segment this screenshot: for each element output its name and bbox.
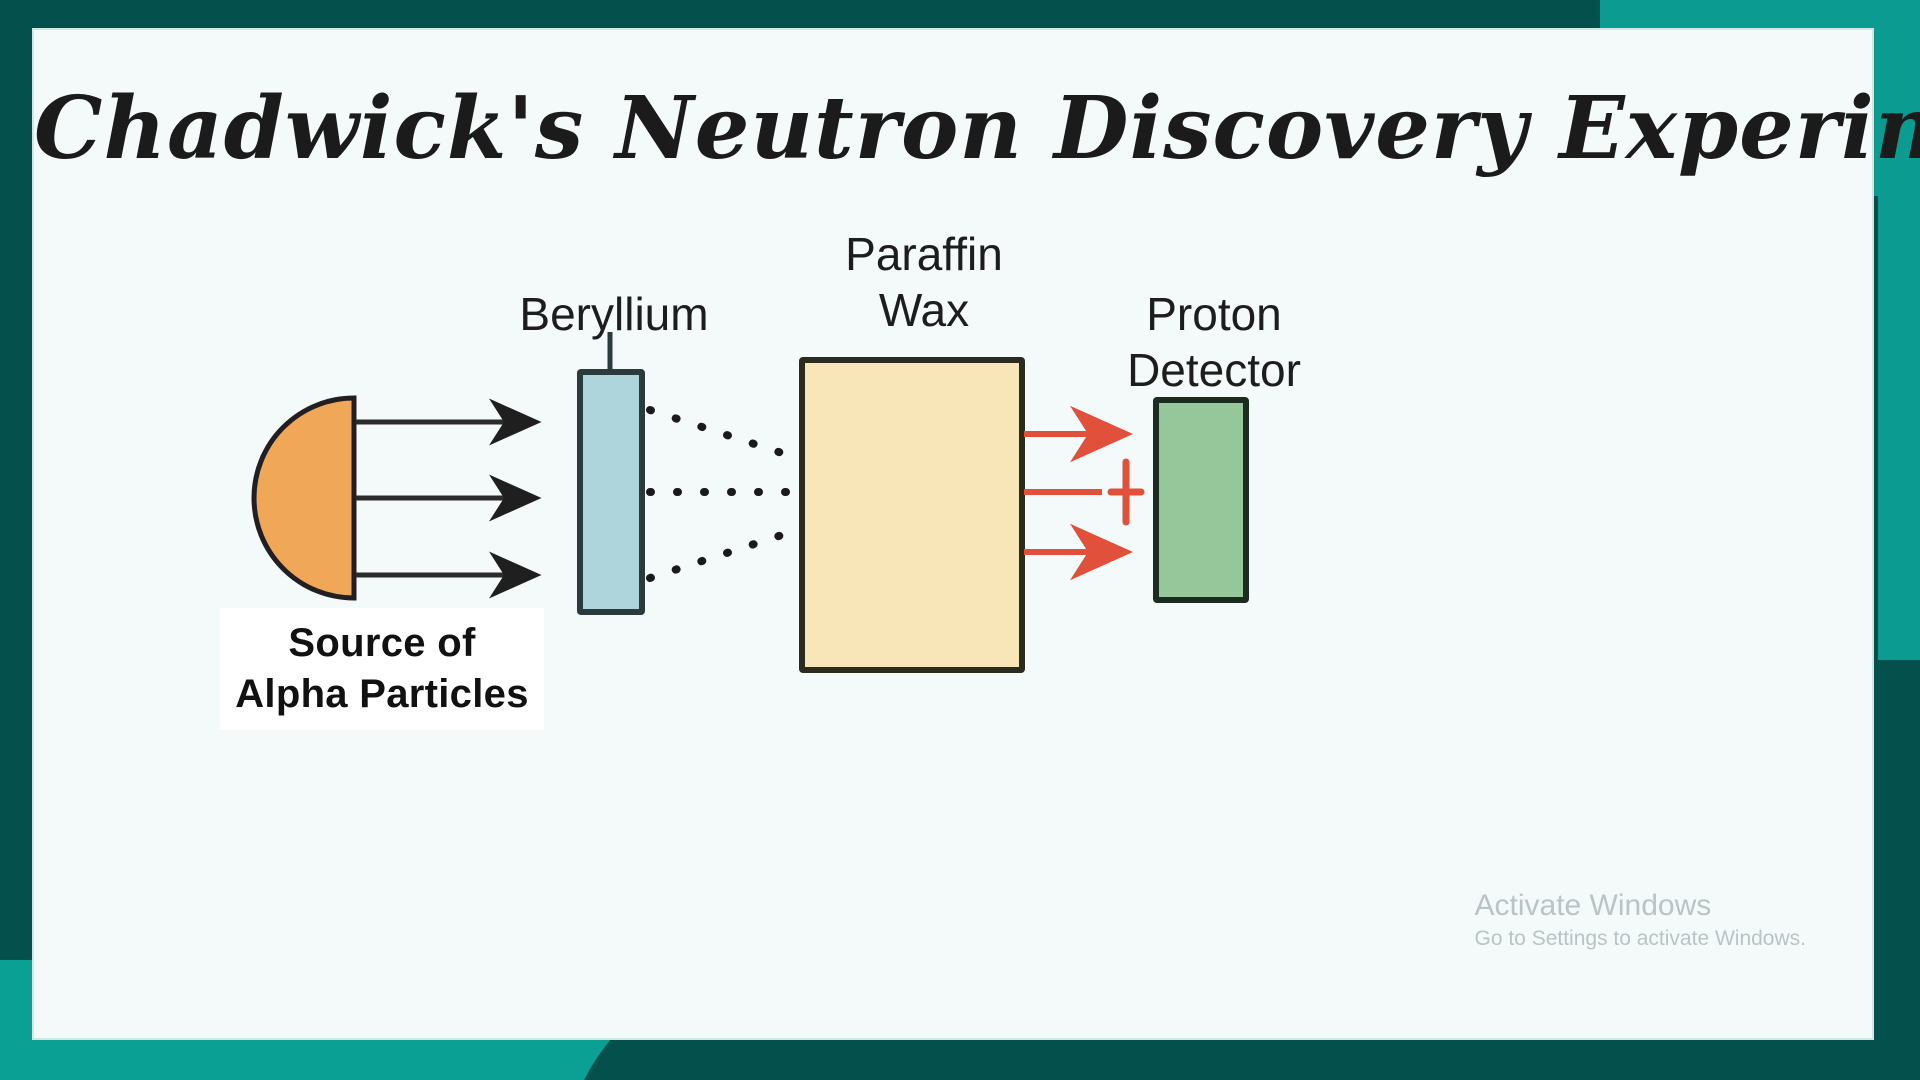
label-detector-line1: Proton <box>1054 286 1374 342</box>
slide-canvas: Chadwick's Neutron Discovery Experiment <box>0 0 1920 1080</box>
label-source-line2: Alpha Particles <box>232 669 532 720</box>
proton-charge-symbol <box>1111 462 1141 522</box>
proton-detector-block <box>1156 400 1246 600</box>
label-proton-detector: Proton Detector <box>1054 286 1374 398</box>
experiment-diagram <box>34 30 1872 1038</box>
alpha-source-shape <box>254 398 354 598</box>
alpha-beam-group <box>356 422 534 575</box>
watermark-subtitle: Go to Settings to activate Windows. <box>1475 925 1807 952</box>
label-beryllium: Beryllium <box>464 286 764 342</box>
beryllium-block <box>580 372 642 612</box>
accent-shape-right-band <box>1878 140 1920 660</box>
label-paraffin-line1: Paraffin <box>774 226 1074 282</box>
label-paraffin-wax: Paraffin Wax <box>774 226 1074 338</box>
watermark-title: Activate Windows <box>1475 888 1807 925</box>
label-source-line1: Source of <box>232 618 532 669</box>
label-paraffin-line2: Wax <box>774 282 1074 338</box>
label-beryllium-text: Beryllium <box>519 288 708 340</box>
label-detector-line2: Detector <box>1054 342 1374 398</box>
windows-activation-watermark: Activate Windows Go to Settings to activ… <box>1475 888 1807 952</box>
content-card: Chadwick's Neutron Discovery Experiment <box>34 30 1872 1038</box>
label-alpha-source: Source of Alpha Particles <box>220 608 544 730</box>
paraffin-wax-block <box>802 360 1022 670</box>
